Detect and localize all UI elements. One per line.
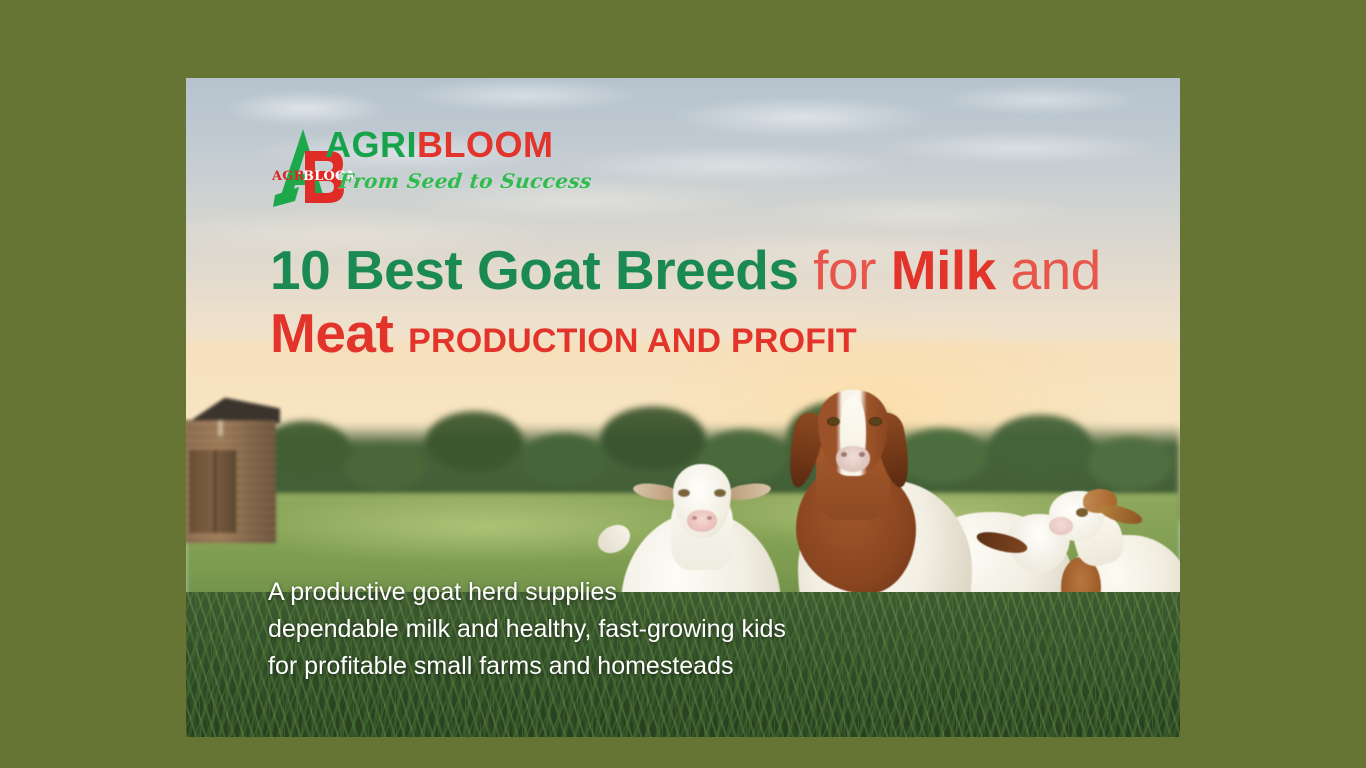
headline-green-text: 10 Best Goat Breeds bbox=[270, 239, 799, 301]
body-copy-block: A productive goat herd supplies dependab… bbox=[268, 574, 968, 685]
headline-for-text: for bbox=[813, 239, 876, 301]
brand-text-block: AGRIBLOOM From Seed to Success bbox=[325, 127, 592, 193]
headline-line-1: 10 Best Goat Breeds for Milk and bbox=[270, 241, 1130, 300]
body-copy-line-1: A productive goat herd supplies bbox=[268, 574, 968, 611]
agribloom-wordmark: AGRIBLOOM bbox=[325, 127, 592, 163]
poster-hero-image: AGRI BLOOM AGRIBLOOM From Seed to Succes… bbox=[186, 78, 1180, 737]
headline-and-text: and bbox=[1011, 239, 1101, 301]
brand-tagline: From Seed to Success bbox=[338, 169, 593, 193]
headline-meat-text: Meat bbox=[270, 302, 393, 364]
wordmark-agri: AGRI bbox=[325, 124, 417, 165]
wordmark-bloom: BLOOM bbox=[417, 124, 553, 165]
headline-block: 10 Best Goat Breeds for Milk and Meat PR… bbox=[270, 241, 1130, 364]
headline-line-2: Meat PRODUCTION AND PROFIT bbox=[270, 304, 1130, 363]
headline-subtitle-text: PRODUCTION AND PROFIT bbox=[408, 322, 857, 360]
body-copy-line-3: for profitable small farms and homestead… bbox=[268, 648, 968, 685]
agribloom-logo[interactable]: AGRI BLOOM AGRIBLOOM From Seed to Succes… bbox=[265, 125, 565, 217]
body-copy-line-2: dependable milk and healthy, fast-growin… bbox=[268, 611, 968, 648]
text-overlay: AGRI BLOOM AGRIBLOOM From Seed to Succes… bbox=[186, 78, 1180, 737]
page-stage: AGRI BLOOM AGRIBLOOM From Seed to Succes… bbox=[0, 0, 1366, 768]
headline-milk-text: Milk bbox=[891, 239, 996, 301]
